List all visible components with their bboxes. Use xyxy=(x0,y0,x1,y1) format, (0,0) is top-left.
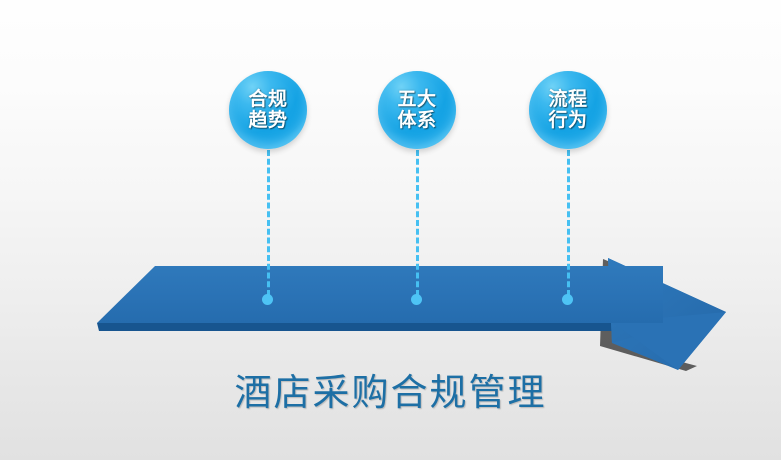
arrow-body-bottom-edge xyxy=(97,323,663,331)
arrowhead xyxy=(608,258,726,370)
node-circle-1[interactable]: 合规 趋势 xyxy=(229,71,307,149)
node-3-label-line2: 行为 xyxy=(548,110,587,131)
node-1-label-line1: 合规 xyxy=(248,89,287,110)
arrowhead-lower xyxy=(612,312,726,370)
connector-dot-2 xyxy=(411,294,422,305)
node-circle-3[interactable]: 流程 行为 xyxy=(529,71,607,149)
arrow-body xyxy=(97,266,663,323)
node-2-label-line2: 体系 xyxy=(397,110,436,131)
slide-canvas: 合规 趋势 五大 体系 流程 行为 酒店采购合规管理 xyxy=(0,0,781,460)
node-1-label-line2: 趋势 xyxy=(248,110,287,131)
connector-line-3 xyxy=(567,150,570,296)
arrowhead-shadow-edge xyxy=(600,259,697,371)
connector-line-1 xyxy=(267,150,270,296)
node-2-label-line1: 五大 xyxy=(397,89,436,110)
arrow-body-notch xyxy=(612,266,663,323)
node-circle-2[interactable]: 五大 体系 xyxy=(378,71,456,149)
node-3-label-line1: 流程 xyxy=(548,89,587,110)
connector-line-2 xyxy=(416,150,419,296)
connector-dot-1 xyxy=(262,294,273,305)
slide-title: 酒店采购合规管理 xyxy=(0,372,781,416)
arrowhead-upper xyxy=(608,258,726,343)
connector-dot-3 xyxy=(562,294,573,305)
